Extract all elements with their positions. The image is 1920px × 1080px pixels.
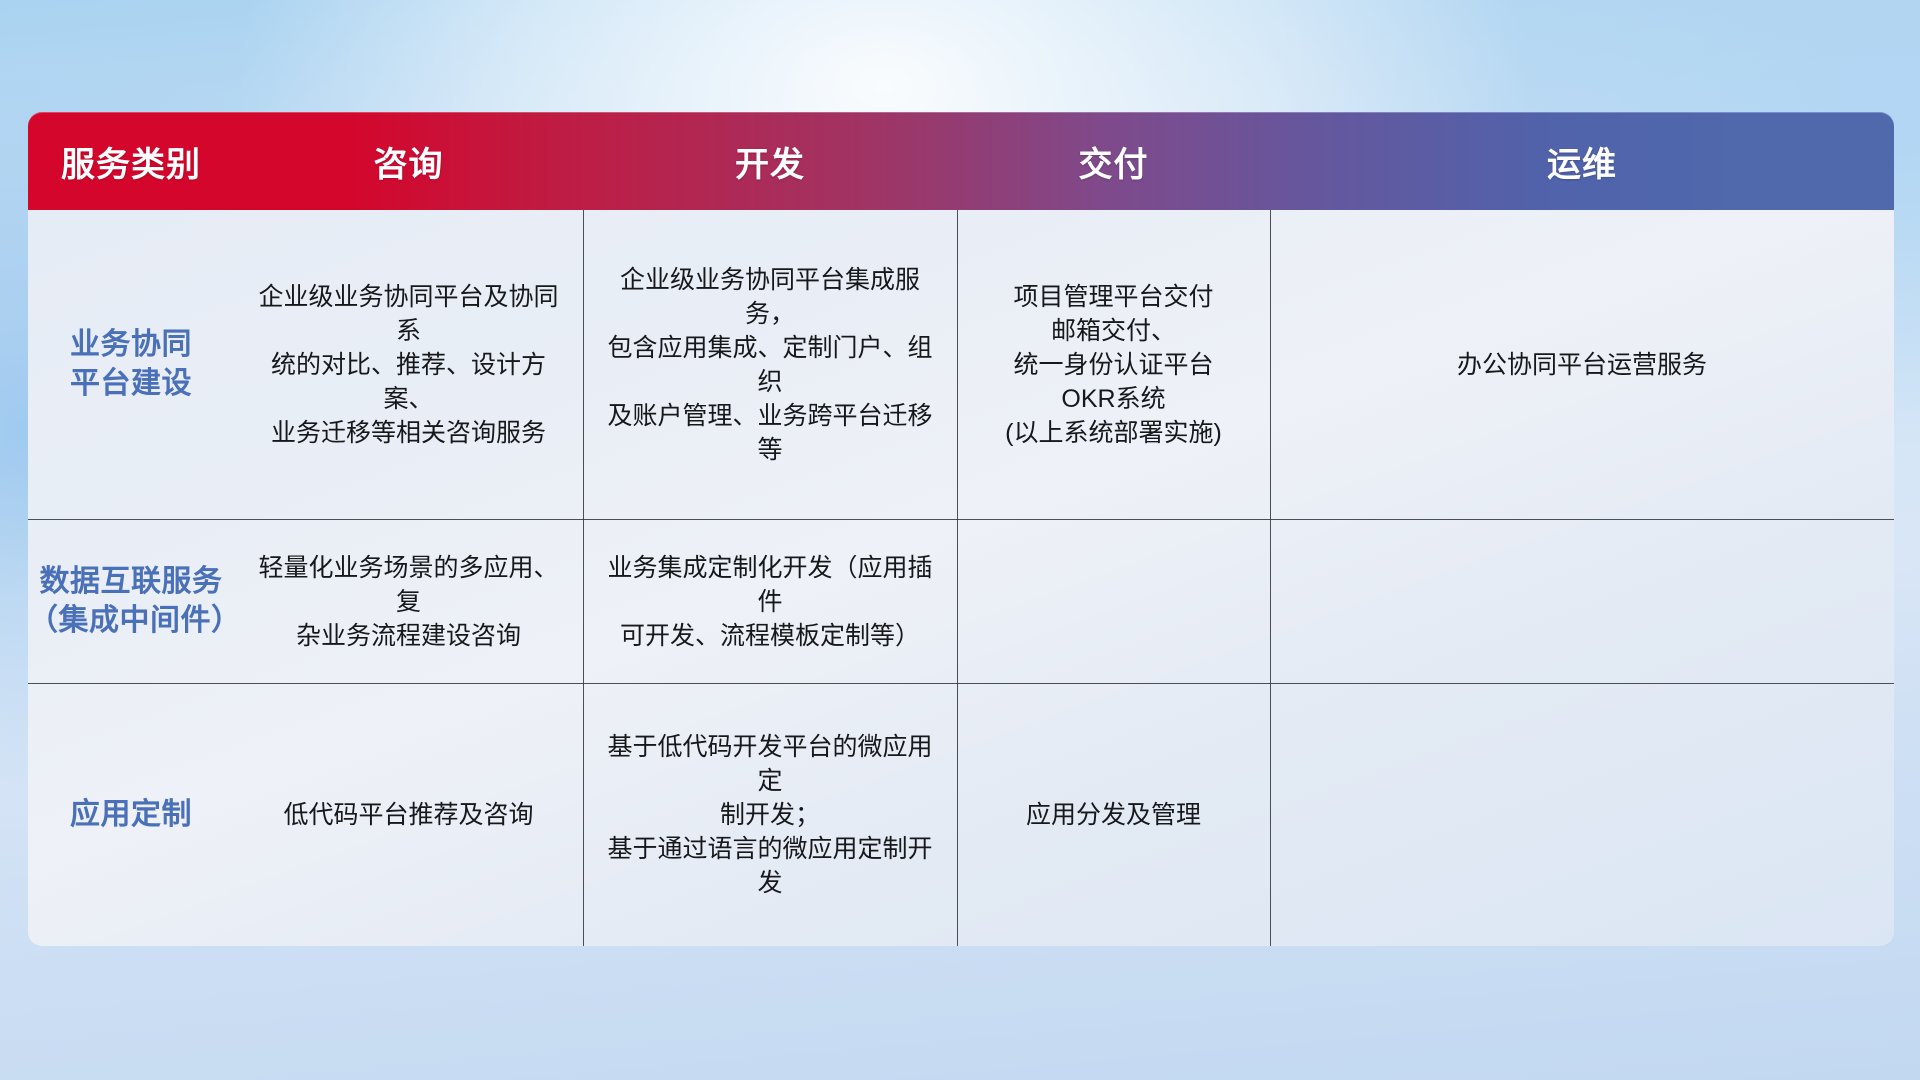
- table-row: 业务协同平台建设 企业级业务协同平台及协同系统的对比、推荐、设计方案、业务迁移等…: [28, 210, 1894, 519]
- column-header-development: 开发: [583, 137, 957, 186]
- services-matrix-table: 服务类别 咨询 开发 交付 运维 业务协同平台建设 企业级业务协同平台及协同系统…: [28, 112, 1894, 946]
- column-header-consulting: 咨询: [234, 137, 583, 186]
- cell-operations-row1: 办公协同平台运营服务: [1270, 348, 1894, 382]
- column-header-operations: 运维: [1270, 137, 1894, 186]
- column-header-delivery: 交付: [957, 137, 1270, 186]
- row-label-application-customization: 应用定制: [28, 796, 234, 834]
- row-label-data-interconnection-service: 数据互联服务（集成中间件）: [28, 563, 234, 640]
- table-body: 业务协同平台建设 企业级业务协同平台及协同系统的对比、推荐、设计方案、业务迁移等…: [28, 210, 1894, 946]
- cell-consulting-row1: 企业级业务协同平台及协同系统的对比、推荐、设计方案、业务迁移等相关咨询服务: [234, 280, 583, 450]
- table-row: 应用定制 低代码平台推荐及咨询 基于低代码开发平台的微应用定制开发；基于通过语言…: [28, 684, 1894, 946]
- cell-consulting-row2: 轻量化业务场景的多应用、复杂业务流程建设咨询: [234, 551, 583, 653]
- row-label-business-collaboration-platform: 业务协同平台建设: [28, 326, 234, 403]
- cell-development-row1: 企业级业务协同平台集成服务，包含应用集成、定制门户、组织及账户管理、业务跨平台迁…: [583, 263, 957, 467]
- cell-consulting-row3: 低代码平台推荐及咨询: [234, 798, 583, 832]
- cell-delivery-row3: 应用分发及管理: [957, 798, 1270, 832]
- cell-development-row2: 业务集成定制化开发（应用插件可开发、流程模板定制等）: [583, 551, 957, 653]
- cell-development-row3: 基于低代码开发平台的微应用定制开发；基于通过语言的微应用定制开发: [583, 730, 957, 900]
- table-row: 数据互联服务（集成中间件） 轻量化业务场景的多应用、复杂业务流程建设咨询 业务集…: [28, 520, 1894, 683]
- column-header-service-category: 服务类别: [28, 137, 234, 186]
- cell-delivery-row1: 项目管理平台交付邮箱交付、统一身份认证平台OKR系统(以上系统部署实施): [957, 280, 1270, 450]
- slide-canvas: 服务类别 咨询 开发 交付 运维 业务协同平台建设 企业级业务协同平台及协同系统…: [0, 0, 1920, 1080]
- table-header-row: 服务类别 咨询 开发 交付 运维: [28, 112, 1894, 210]
